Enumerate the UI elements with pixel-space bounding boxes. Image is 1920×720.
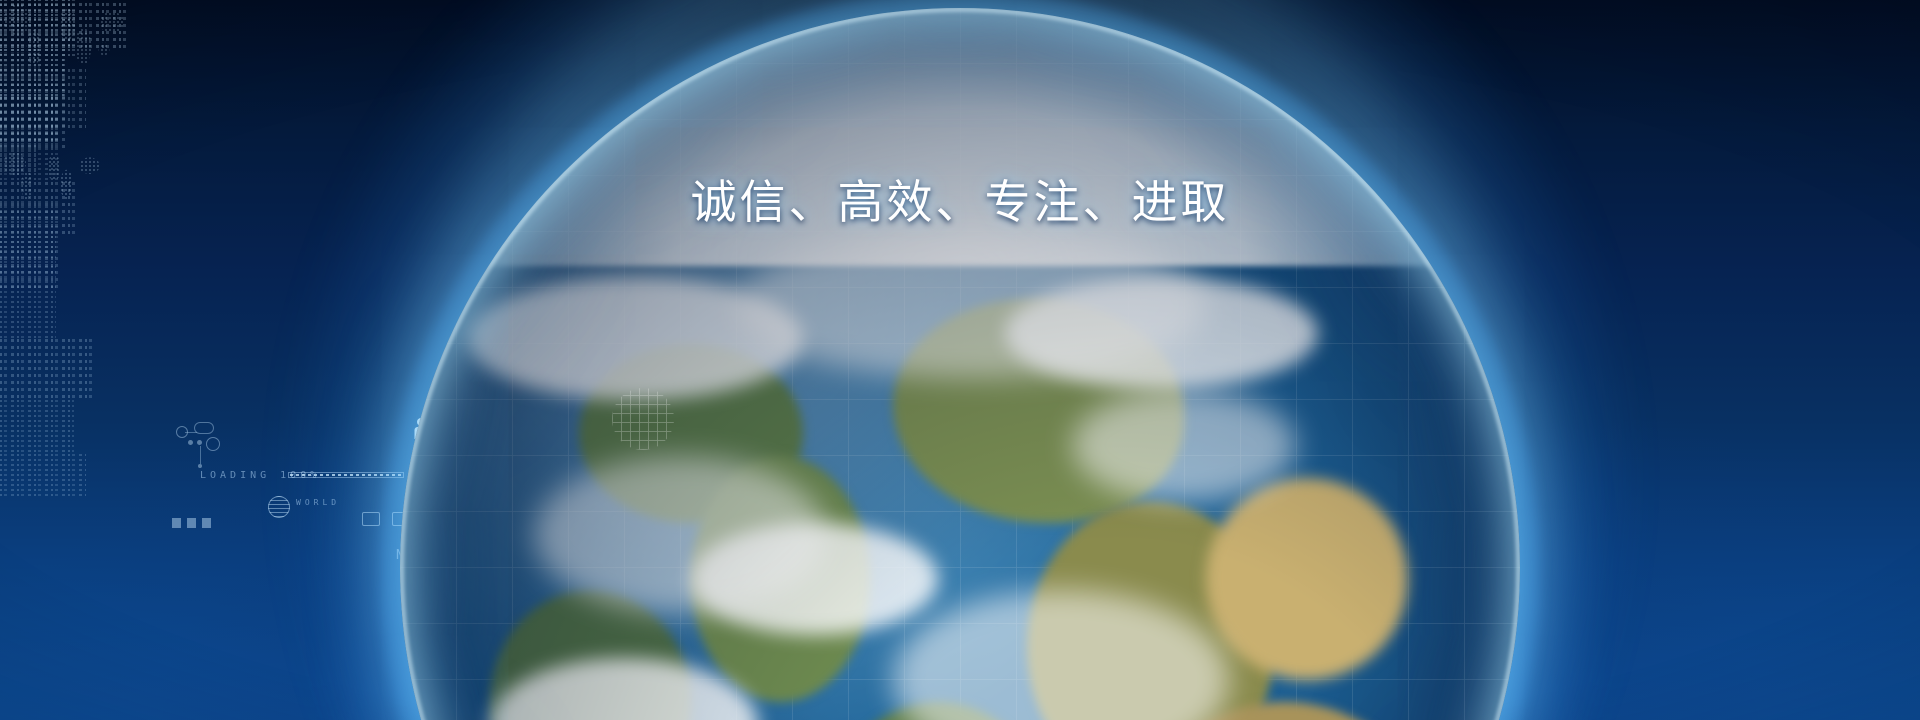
hud-textblock <box>0 338 92 398</box>
page-title: 诚信、高效、专注、进取 <box>0 166 1920 232</box>
hud-textblock <box>0 96 68 148</box>
hud-textblock <box>0 288 56 338</box>
network-node-icon <box>176 420 230 468</box>
hud-textblock <box>0 46 40 76</box>
hud-textblock <box>0 234 56 288</box>
hud-square-row <box>172 518 216 528</box>
hud-textblock <box>0 48 68 96</box>
hud-textblock <box>0 452 86 496</box>
hud-left-group: LOADING 100% MEDIA WORLD NETWORK SEARCH <box>0 0 130 496</box>
hud-circle-icon <box>268 496 290 518</box>
hud-textblock <box>0 56 64 96</box>
hud-textblock <box>0 0 70 46</box>
dot-world-map-icon <box>0 0 130 66</box>
hud-textblock <box>0 66 86 128</box>
hud-textblock <box>0 96 62 142</box>
hud-right-group: - SHOW BUSINESS - NETWORK - MUSIC - CINE… <box>0 0 104 288</box>
hud-mid-group: LOADING 100% <box>0 0 126 172</box>
hud-textblock <box>0 248 58 288</box>
banner-stage: LOADING 100% MEDIA WORLD NETWORK SEARCH <box>0 0 1920 720</box>
hud-textblock <box>0 398 74 452</box>
hud-textblock <box>0 0 78 56</box>
hud-textblock <box>0 0 126 48</box>
earth-globe-image <box>400 8 1520 720</box>
